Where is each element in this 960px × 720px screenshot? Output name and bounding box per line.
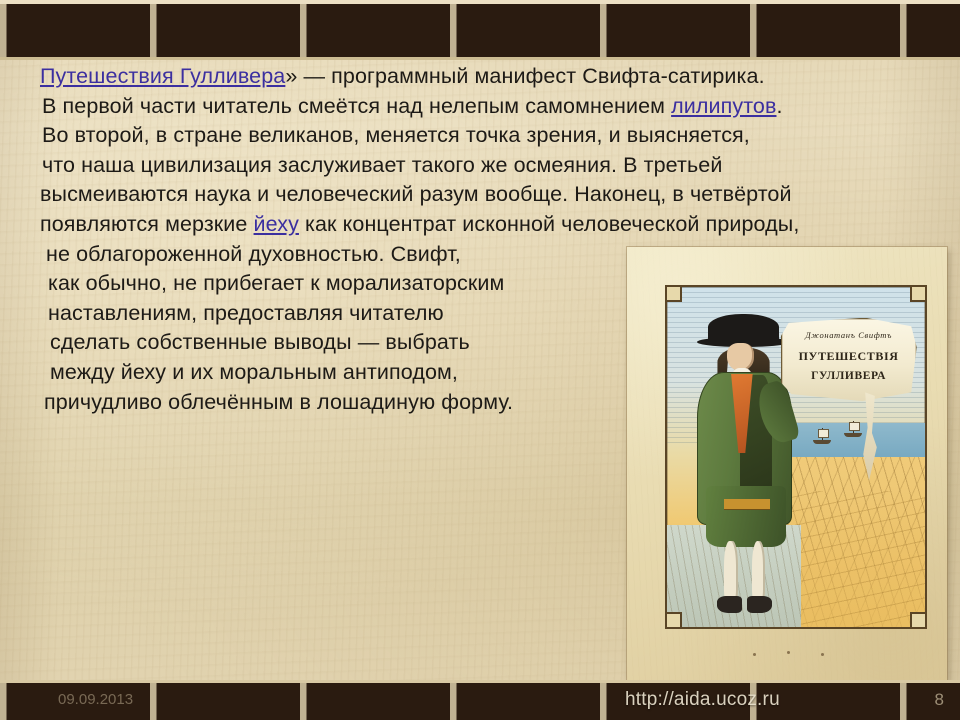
text-run: . xyxy=(776,94,782,118)
coat-skirt-shape xyxy=(706,486,785,547)
body-text-line: В первой части читатель смеётся над неле… xyxy=(0,92,960,122)
footer-date: 09.09.2013 xyxy=(58,691,133,708)
left-shoe-shape xyxy=(717,596,742,613)
body-text-line: что наша цивилизация заслуживает такого … xyxy=(0,151,960,181)
shelf-dividers xyxy=(0,4,960,57)
text-run: В первой части читатель смеётся над неле… xyxy=(42,94,671,118)
shelf-bottom-trim xyxy=(0,57,960,60)
plate-corner-icon xyxy=(910,285,927,302)
bookshelf-books-image xyxy=(0,4,960,57)
text-run: Во второй, в стране великанов, меняется … xyxy=(42,123,750,147)
body-text-line: Во второй, в стране великанов, меняется … xyxy=(0,121,960,151)
text-run: как обычно, не прибегает к морализаторск… xyxy=(48,271,504,295)
top-bookshelf-border xyxy=(0,0,960,60)
plate-corner-icon xyxy=(910,612,927,629)
body-text-line: Путешествия Гулливера» — программный ман… xyxy=(0,62,960,92)
hyperlink[interactable]: йеху xyxy=(254,212,299,236)
belt-shape xyxy=(724,499,769,509)
text-run: что наша цивилизация заслуживает такого … xyxy=(42,153,722,177)
cover-author: Джонатанъ Свифтъ xyxy=(782,330,916,340)
cover-title-line-1: ПУТЕШЕСТВІЯ xyxy=(782,349,916,364)
text-run: высмеиваются наука и человеческий разум … xyxy=(40,182,792,206)
right-shoe-shape xyxy=(747,596,772,613)
cover-dot-marks xyxy=(787,651,790,654)
cover-engraving-plate: Джонатанъ Свифтъ ПУТЕШЕСТВІЯ ГУЛЛИВЕРА xyxy=(665,285,927,629)
face-shape xyxy=(727,343,754,371)
left-leg-shape xyxy=(724,541,738,602)
plate-corner-icon xyxy=(665,285,682,302)
text-run: сделать собственные выводы — выбрать xyxy=(50,330,470,354)
text-run: между йеху и их моральным антиподом, xyxy=(50,360,458,384)
text-run: » — программный манифест Свифта-сатирика… xyxy=(285,64,764,88)
text-run: причудливо облечённым в лошадиную форму. xyxy=(44,390,513,414)
hyperlink[interactable]: лилипутов xyxy=(671,94,776,118)
presentation-slide: Путешествия Гулливера» — программный ман… xyxy=(0,0,960,720)
cover-title-line-2: ГУЛЛИВЕРА xyxy=(782,370,916,382)
right-leg-shape xyxy=(752,541,766,602)
text-run: не облагороженной духовностью. Свифт, xyxy=(46,242,461,266)
book-cover-illustration: Джонатанъ Свифтъ ПУТЕШЕСТВІЯ ГУЛЛИВЕРА xyxy=(627,247,947,681)
text-run: появляются мерзкие xyxy=(40,212,254,236)
hyperlink[interactable]: Путешествия Гулливера xyxy=(40,64,285,88)
text-run: наставлениям, предоставляя читателю xyxy=(48,301,444,325)
footer-url[interactable]: http://aida.ucoz.ru xyxy=(625,689,780,711)
body-text-line: высмеиваются наука и человеческий разум … xyxy=(0,180,960,210)
slide-page-number: 8 xyxy=(935,690,944,710)
slide-footer: 09.09.2013 http://aida.ucoz.ru 8 xyxy=(0,680,960,720)
title-scroll-banner: Джонатанъ Свифтъ ПУТЕШЕСТВІЯ ГУЛЛИВЕРА xyxy=(781,318,917,405)
text-run: как концентрат исконной человеческой при… xyxy=(299,212,799,236)
plate-corner-icon xyxy=(665,612,682,629)
body-text-line: появляются мерзкие йеху как концентрат и… xyxy=(0,210,960,240)
